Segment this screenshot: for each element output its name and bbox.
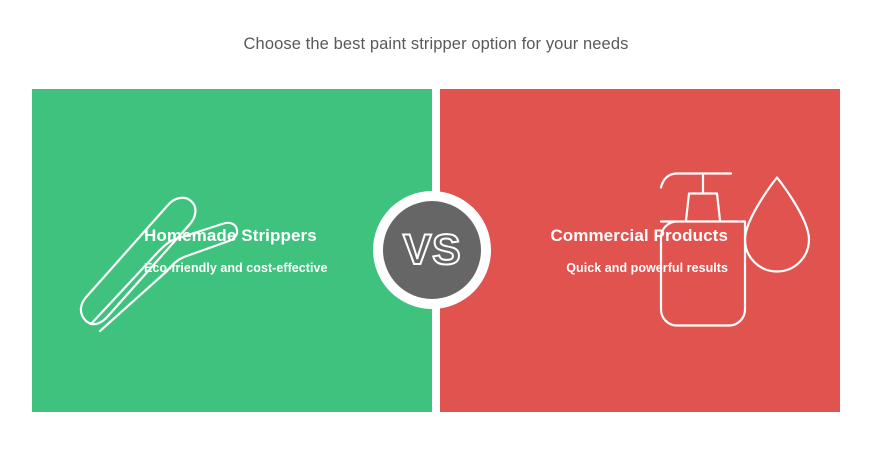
page-title: Choose the best paint stripper option fo… [0, 35, 872, 54]
panel-subtitle-homemade: Eco-friendly and cost-effective [144, 260, 334, 277]
pump-bottle-droplet-icon [653, 163, 818, 338]
panel-text-homemade: Homemade Strippers Eco-friendly and cost… [144, 224, 334, 276]
versus-badge-circle: VS [383, 201, 481, 299]
panel-title-homemade: Homemade Strippers [144, 224, 334, 246]
versus-label: VS [403, 229, 461, 272]
comparison-panel-commercial: Commercial Products Quick and powerful r… [440, 89, 840, 412]
comparison-panel-homemade: Homemade Strippers Eco-friendly and cost… [32, 89, 432, 412]
versus-badge: VS [373, 191, 491, 309]
comparison-infographic: Choose the best paint stripper option fo… [0, 0, 872, 462]
